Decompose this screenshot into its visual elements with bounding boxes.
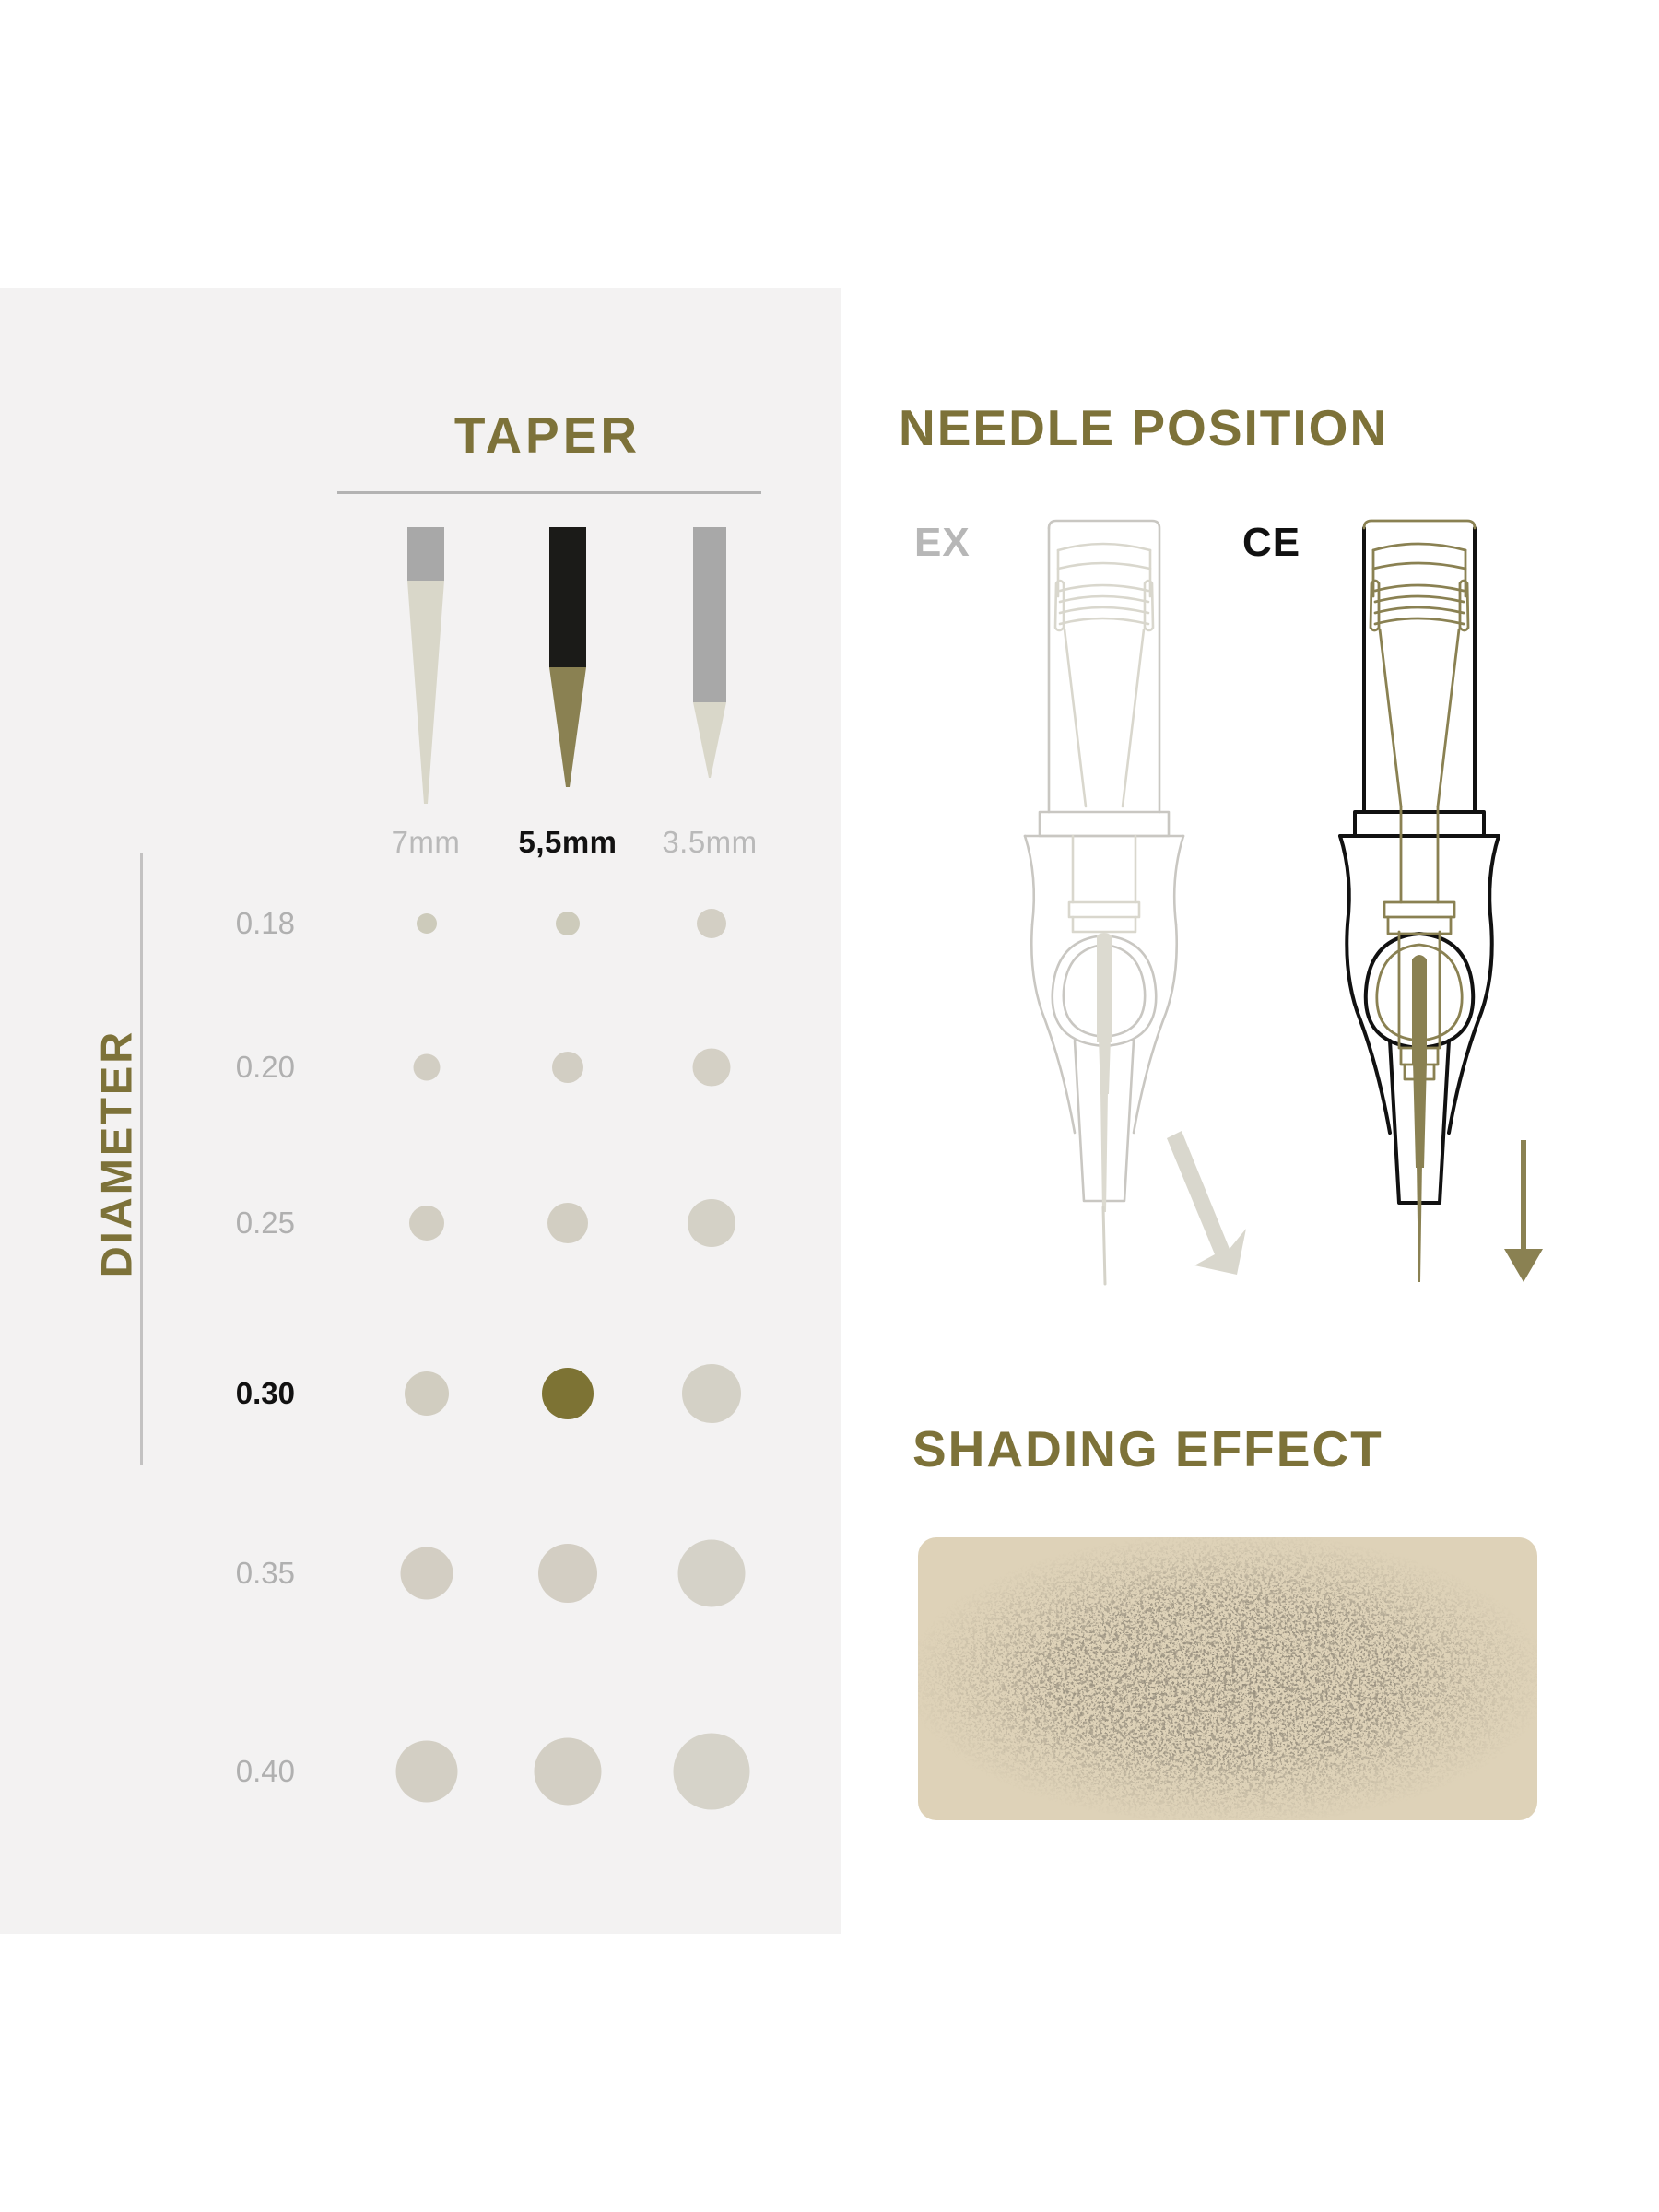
- dot-r4-c2: [678, 1540, 746, 1607]
- dot-r2-c0: [409, 1206, 444, 1241]
- cartridge-illustration-ex: [977, 512, 1253, 1286]
- diameter-row-label-2: 0.25: [157, 1206, 295, 1241]
- diameter-row-label-1: 0.20: [157, 1050, 295, 1085]
- dot-r0-c0: [417, 913, 437, 934]
- cartridge-illustration-ce: [1292, 512, 1569, 1286]
- taper-diameter-panel: TAPER 7mm 5,5mm 3.5mm DIAMETER 0.18 0.20…: [0, 288, 841, 1934]
- needle-position-section-title: NEEDLE POSITION: [899, 398, 1388, 457]
- dot-r3-c2: [682, 1364, 741, 1423]
- diameter-dot-grid: 0.18 0.20 0.25 0.30 0.35 0.40: [0, 288, 841, 1934]
- diameter-row-label-0: 0.18: [157, 906, 295, 941]
- dot-r5-c0: [396, 1741, 458, 1803]
- dot-r1-c2: [693, 1049, 731, 1087]
- dot-r2-c2: [688, 1199, 735, 1247]
- shading-effect-section-title: SHADING EFFECT: [912, 1419, 1383, 1478]
- dot-r4-c1: [538, 1544, 597, 1603]
- dot-r0-c2: [697, 909, 726, 938]
- dot-r2-c1: [547, 1203, 588, 1243]
- dot-r0-c1: [556, 912, 580, 935]
- dot-r4-c0: [401, 1547, 453, 1600]
- shading-effect-swatch: [918, 1537, 1537, 1820]
- diameter-row-label-4: 0.35: [157, 1556, 295, 1591]
- diameter-row-label-3: 0.30: [157, 1376, 295, 1411]
- dot-r5-c1: [535, 1738, 602, 1806]
- dot-r1-c0: [414, 1054, 441, 1081]
- stipple-pattern: [918, 1537, 1537, 1820]
- dot-r1-c1: [552, 1052, 583, 1083]
- diameter-row-label-5: 0.40: [157, 1754, 295, 1789]
- dot-r3-c1-highlight: [542, 1368, 594, 1419]
- cartridge-label-ex: EX: [914, 520, 971, 566]
- dot-r5-c2: [674, 1734, 750, 1810]
- dot-r3-c0: [405, 1371, 449, 1416]
